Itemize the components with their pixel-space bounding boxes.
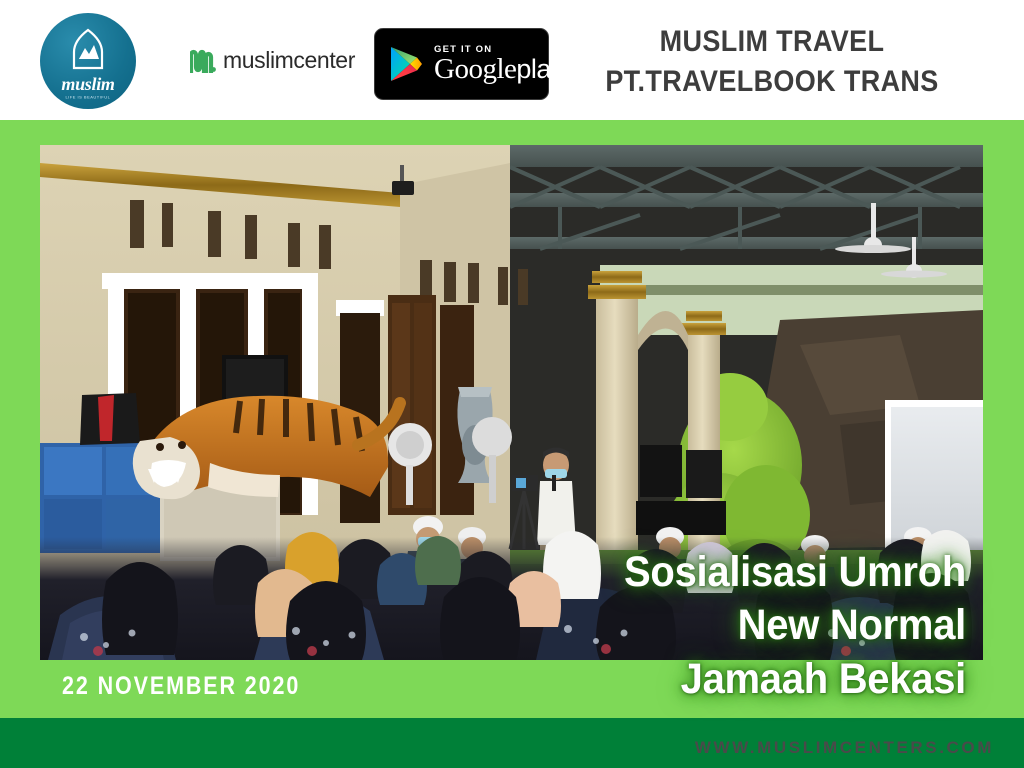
mosque-arch-icon bbox=[65, 28, 111, 74]
muslimcenter-label: muslimcenter bbox=[223, 47, 355, 74]
event-photo bbox=[40, 145, 983, 660]
muslimcenter-brand: muslimcenter bbox=[190, 47, 355, 74]
muslimcenter-m-icon bbox=[190, 49, 216, 73]
google-play-play-label: play bbox=[516, 54, 564, 84]
google-play-triangle-icon bbox=[389, 45, 423, 83]
company-title: MUSLIM TRAVEL PT.TRAVELBOOK TRANS bbox=[562, 22, 982, 101]
event-date: 22 NOVEMBER 2020 bbox=[62, 672, 300, 701]
google-play-badge[interactable]: GET IT ON Googleplay bbox=[374, 28, 549, 100]
event-poster: muslim LIFE IS BEAUTIFUL muslimcenter bbox=[0, 0, 1024, 768]
header-bar: muslim LIFE IS BEAUTIFUL muslimcenter bbox=[0, 0, 1024, 120]
google-play-google-label: Google bbox=[434, 53, 516, 85]
muslim-logo-tagline: LIFE IS BEAUTIFUL bbox=[66, 94, 111, 99]
muslim-logo: muslim LIFE IS BEAUTIFUL bbox=[40, 13, 136, 109]
website-url[interactable]: WWW.MUSLIMCENTERS.COM bbox=[695, 738, 994, 758]
company-title-line1: MUSLIM TRAVEL bbox=[583, 22, 961, 62]
company-title-line2: PT.TRAVELBOOK TRANS bbox=[583, 62, 961, 102]
muslim-logo-wordmark: muslim bbox=[61, 75, 114, 93]
